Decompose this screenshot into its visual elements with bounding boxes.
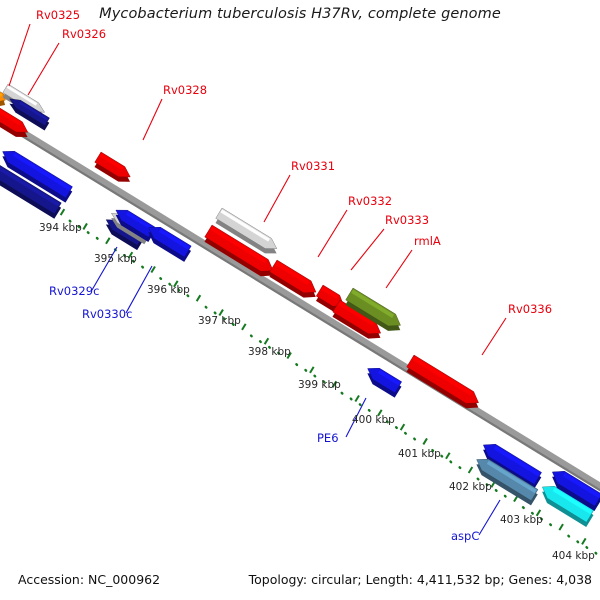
gene-label-Rv0332[interactable]: Rv0332: [348, 194, 392, 208]
gene-label-Rv0330c[interactable]: Rv0330c: [82, 307, 132, 321]
gene-label-rmlA[interactable]: rmlA: [414, 234, 441, 248]
gene-label-Rv0331[interactable]: Rv0331: [291, 159, 335, 173]
scale-tick-minor: [451, 462, 452, 463]
scale-label: 396 kbp: [147, 284, 190, 296]
gene-label-Rv0336[interactable]: Rv0336: [508, 302, 552, 316]
scale-tick-minor: [296, 364, 297, 365]
scale-tick-minor: [496, 490, 497, 491]
label-leader-line: [318, 210, 347, 257]
gene-label-Rv0328[interactable]: Rv0328: [163, 83, 207, 97]
label-leader-line: [482, 318, 506, 355]
scale-label: 397 kbp: [198, 315, 241, 327]
gene-label-Rv0333[interactable]: Rv0333: [385, 213, 429, 227]
scale-tick-major: [106, 238, 110, 244]
scale-tick-minor: [305, 370, 306, 371]
accession-text: Accession: NC_000962: [18, 572, 160, 587]
scale-tick-major: [446, 453, 450, 459]
label-leader-line: [143, 99, 162, 140]
gene-feature[interactable]: [143, 222, 193, 262]
scale-label: 398 kbp: [248, 346, 291, 358]
scale-tick-minor: [596, 553, 597, 554]
scale-tick-minor: [396, 427, 397, 428]
scale-tick-major: [151, 267, 155, 273]
scale-tick-minor: [260, 341, 261, 342]
scale-tick-major: [265, 338, 269, 344]
label-leader-line: [386, 250, 412, 288]
scale-tick-minor: [97, 238, 98, 239]
scale-tick-minor: [315, 376, 316, 377]
scale-tick-major: [469, 467, 473, 473]
scale-tick-minor: [441, 456, 442, 457]
scale-tick-labels: 394 kbp395 kbp396 kbp397 kbp398 kbp399 k…: [39, 222, 595, 562]
scale-tick-minor: [568, 536, 569, 537]
scale-tick-minor: [88, 232, 89, 233]
scale-label: 403 kbp: [500, 514, 543, 526]
scale-tick-major: [355, 396, 359, 402]
label-leader-line: [351, 229, 384, 270]
gene-label-aspC[interactable]: aspC: [451, 529, 479, 543]
scale-tick-major: [559, 524, 563, 530]
scale-label: 399 kbp: [298, 379, 341, 391]
scale-label: 400 kbp: [352, 414, 395, 426]
scale-tick-minor: [142, 267, 143, 268]
scale-tick-minor: [369, 410, 370, 411]
scale-tick-minor: [577, 541, 578, 542]
scale-tick-major: [242, 324, 246, 330]
scale-tick-major: [423, 438, 427, 444]
scale-tick-minor: [414, 439, 415, 440]
scale-tick-minor: [160, 278, 161, 279]
scale-tick-minor: [342, 393, 343, 394]
scale-tick-major: [83, 223, 87, 229]
label-leader-line: [264, 175, 290, 222]
scale-tick-major: [61, 209, 65, 215]
scale-tick-major: [582, 538, 586, 544]
scale-tick-minor: [360, 404, 361, 405]
scale-label: 401 kbp: [398, 448, 441, 460]
scale-tick-major: [310, 367, 314, 373]
gene-feature[interactable]: [362, 363, 404, 398]
scale-label: 395 kbp: [94, 253, 137, 265]
genome-stats-text: Topology: circular; Length: 4,411,532 bp…: [249, 572, 592, 587]
genome-map-canvas[interactable]: 394 kbp395 kbp396 kbp397 kbp398 kbp399 k…: [0, 0, 600, 600]
scale-tick-minor: [405, 433, 406, 434]
scale-tick-minor: [550, 524, 551, 525]
scale-tick-minor: [505, 496, 506, 497]
scale-tick-major: [401, 424, 405, 430]
gene-label-Rv0325[interactable]: Rv0325: [36, 8, 80, 22]
scale-tick-minor: [351, 399, 352, 400]
label-leader-line: [28, 43, 59, 95]
scale-label: 394 kbp: [39, 222, 82, 234]
scale-tick-minor: [523, 507, 524, 508]
gene-label-Rv0329c[interactable]: Rv0329c: [49, 284, 99, 298]
label-leader-line: [9, 24, 30, 86]
gene-label-Rv0326[interactable]: Rv0326: [62, 27, 106, 41]
gene-label-PE6[interactable]: PE6: [317, 431, 339, 445]
scale-tick-minor: [206, 307, 207, 308]
scale-tick-minor: [587, 547, 588, 548]
scale-tick-minor: [215, 313, 216, 314]
genome-map-viewer: Mycobacterium tuberculosis H37Rv, comple…: [0, 0, 600, 600]
scale-tick-minor: [251, 336, 252, 337]
scale-label: 404 kbp: [552, 550, 595, 562]
scale-tick-minor: [460, 467, 461, 468]
label-leader-line: [479, 500, 500, 535]
scale-tick-minor: [478, 479, 479, 480]
scale-tick-major: [197, 295, 201, 301]
gene-feature[interactable]: [404, 355, 484, 414]
scale-label: 402 kbp: [449, 481, 492, 493]
